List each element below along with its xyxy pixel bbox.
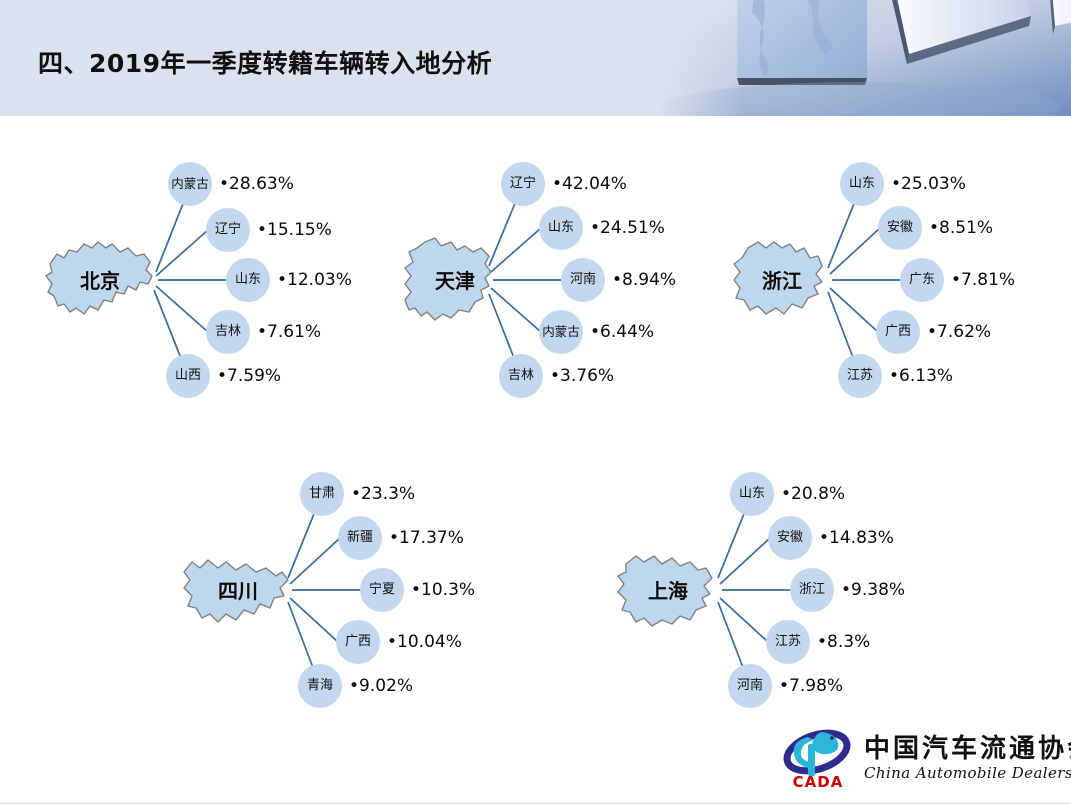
node-zhejiang-3[interactable]: 广西 •7.62% xyxy=(876,310,991,354)
node-bubble-label: 吉林 xyxy=(206,310,250,354)
node-percent: •3.76% xyxy=(550,366,614,386)
node-bubble-label: 广东 xyxy=(900,258,944,302)
node-bubble-label: 山东 xyxy=(730,472,774,516)
blue-cubes-artwork xyxy=(651,0,1071,116)
node-bubble-label: 山东 xyxy=(226,258,270,302)
node-percent: •42.04% xyxy=(552,174,627,194)
node-tianjin-0[interactable]: 辽宁 •42.04% xyxy=(501,162,627,206)
node-zhejiang-4[interactable]: 江苏 •6.13% xyxy=(838,354,953,398)
header-decoration-cubes-image xyxy=(651,0,1071,116)
node-beijing-3[interactable]: 吉林 •7.61% xyxy=(206,310,321,354)
beijing-map-svg xyxy=(40,228,160,330)
node-zhejiang-1[interactable]: 安徽 •8.51% xyxy=(878,206,993,250)
node-percent: •9.02% xyxy=(349,676,413,696)
page-title: 四、2019年一季度转籍车辆转入地分析 xyxy=(38,44,492,80)
node-percent: •17.37% xyxy=(389,528,464,548)
node-shanghai-1[interactable]: 安徽 •14.83% xyxy=(768,516,894,560)
sichuan-map-shape: 四川 xyxy=(178,538,298,640)
node-beijing-0[interactable]: 内蒙古 •28.63% xyxy=(168,162,294,206)
slide-header: 四、2019年一季度转籍车辆转入地分析 xyxy=(0,0,1071,116)
node-percent: •8.51% xyxy=(929,218,993,238)
node-tianjin-2[interactable]: 河南 •8.94% xyxy=(561,258,676,302)
node-bubble-label: 江苏 xyxy=(838,354,882,398)
node-shanghai-3[interactable]: 江苏 •8.3% xyxy=(766,620,870,664)
node-percent: •15.15% xyxy=(257,220,332,240)
node-bubble-label: 内蒙古 xyxy=(539,310,583,354)
tianjin-map-svg xyxy=(395,228,515,330)
node-percent: •6.44% xyxy=(590,322,654,342)
node-percent: •6.13% xyxy=(889,366,953,386)
node-percent: •7.59% xyxy=(217,366,281,386)
shanghai-map-svg xyxy=(608,538,728,640)
node-bubble-label: 辽宁 xyxy=(206,208,250,252)
diagram-tianjin: 天津 辽宁 •42.04% 山东 •24.51% 河南 •8.94% 内蒙古 •… xyxy=(395,140,740,410)
node-bubble-label: 吉林 xyxy=(499,354,543,398)
node-bubble-label: 新疆 xyxy=(338,516,382,560)
node-percent: •7.98% xyxy=(779,676,843,696)
node-beijing-1[interactable]: 辽宁 •15.15% xyxy=(206,208,332,252)
node-bubble-label: 广西 xyxy=(876,310,920,354)
node-percent: •10.3% xyxy=(411,580,475,600)
diagram-shanghai: 上海 山东 •20.8% 安徽 •14.83% 浙江 •9.38% 江苏 •8.… xyxy=(608,450,953,720)
cada-name-en: China Automobile Dealers Association xyxy=(864,764,1071,782)
diagram-board: 北京 内蒙古 •28.63% 辽宁 •15.15% 山东 •12.03% 吉林 … xyxy=(0,116,1071,804)
beijing-map-shape: 北京 xyxy=(40,228,160,330)
node-sichuan-1[interactable]: 新疆 •17.37% xyxy=(338,516,464,560)
node-sichuan-3[interactable]: 广西 •10.04% xyxy=(336,620,462,664)
zhejiang-map-shape: 浙江 xyxy=(722,228,842,330)
node-shanghai-4[interactable]: 河南 •7.98% xyxy=(728,664,843,708)
node-sichuan-2[interactable]: 宁夏 •10.3% xyxy=(360,568,475,612)
node-percent: •12.03% xyxy=(277,270,352,290)
node-percent: •23.3% xyxy=(351,484,415,504)
node-bubble-label: 河南 xyxy=(728,664,772,708)
node-bubble-label: 青海 xyxy=(298,664,342,708)
node-percent: •7.61% xyxy=(257,322,321,342)
node-percent: •28.63% xyxy=(219,174,294,194)
node-bubble-label: 宁夏 xyxy=(360,568,404,612)
node-percent: •10.04% xyxy=(387,632,462,652)
node-shanghai-0[interactable]: 山东 •20.8% xyxy=(730,472,845,516)
node-percent: •8.3% xyxy=(817,632,870,652)
node-percent: •9.38% xyxy=(841,580,905,600)
node-tianjin-3[interactable]: 内蒙古 •6.44% xyxy=(539,310,654,354)
diagram-zhejiang: 浙江 山东 •25.03% 安徽 •8.51% 广东 •7.81% 广西 •7.… xyxy=(722,140,1067,410)
node-beijing-2[interactable]: 山东 •12.03% xyxy=(226,258,352,302)
diagram-beijing: 北京 内蒙古 •28.63% 辽宁 •15.15% 山东 •12.03% 吉林 … xyxy=(40,140,385,410)
shanghai-map-shape: 上海 xyxy=(608,538,728,640)
node-percent: •7.81% xyxy=(951,270,1015,290)
node-sichuan-4[interactable]: 青海 •9.02% xyxy=(298,664,413,708)
zhejiang-map-svg xyxy=(722,228,842,330)
node-bubble-label: 山东 xyxy=(840,162,884,206)
node-bubble-label: 甘肃 xyxy=(300,472,344,516)
cada-emblem-icon: CADA xyxy=(780,726,858,790)
node-bubble-label: 内蒙古 xyxy=(168,162,212,206)
cada-logo: CADA 中国汽车流通协会 China Automobile Dealers A… xyxy=(780,726,1062,790)
cada-emblem-svg: CADA xyxy=(780,726,858,790)
node-bubble-label: 安徽 xyxy=(768,516,812,560)
node-bubble-label: 广西 xyxy=(336,620,380,664)
node-zhejiang-0[interactable]: 山东 •25.03% xyxy=(840,162,966,206)
node-bubble-label: 安徽 xyxy=(878,206,922,250)
diagram-sichuan: 四川 甘肃 •23.3% 新疆 •17.37% 宁夏 •10.3% 广西 •10… xyxy=(178,450,523,720)
node-sichuan-0[interactable]: 甘肃 •23.3% xyxy=(300,472,415,516)
node-bubble-label: 河南 xyxy=(561,258,605,302)
node-beijing-4[interactable]: 山西 •7.59% xyxy=(166,354,281,398)
sichuan-map-svg xyxy=(178,538,298,640)
node-percent: •14.83% xyxy=(819,528,894,548)
node-tianjin-4[interactable]: 吉林 •3.76% xyxy=(499,354,614,398)
node-percent: •7.62% xyxy=(927,322,991,342)
cada-acronym: CADA xyxy=(793,773,844,790)
node-bubble-label: 浙江 xyxy=(790,568,834,612)
node-bubble-label: 山西 xyxy=(166,354,210,398)
node-tianjin-1[interactable]: 山东 •24.51% xyxy=(539,206,665,250)
node-percent: •24.51% xyxy=(590,218,665,238)
node-percent: •20.8% xyxy=(781,484,845,504)
node-bubble-label: 江苏 xyxy=(766,620,810,664)
node-percent: •8.94% xyxy=(612,270,676,290)
node-zhejiang-2[interactable]: 广东 •7.81% xyxy=(900,258,1015,302)
node-bubble-label: 辽宁 xyxy=(501,162,545,206)
tianjin-map-shape: 天津 xyxy=(395,228,515,330)
cada-name-cn: 中国汽车流通协会 xyxy=(864,728,1071,765)
node-shanghai-2[interactable]: 浙江 •9.38% xyxy=(790,568,905,612)
node-bubble-label: 山东 xyxy=(539,206,583,250)
node-percent: •25.03% xyxy=(891,174,966,194)
